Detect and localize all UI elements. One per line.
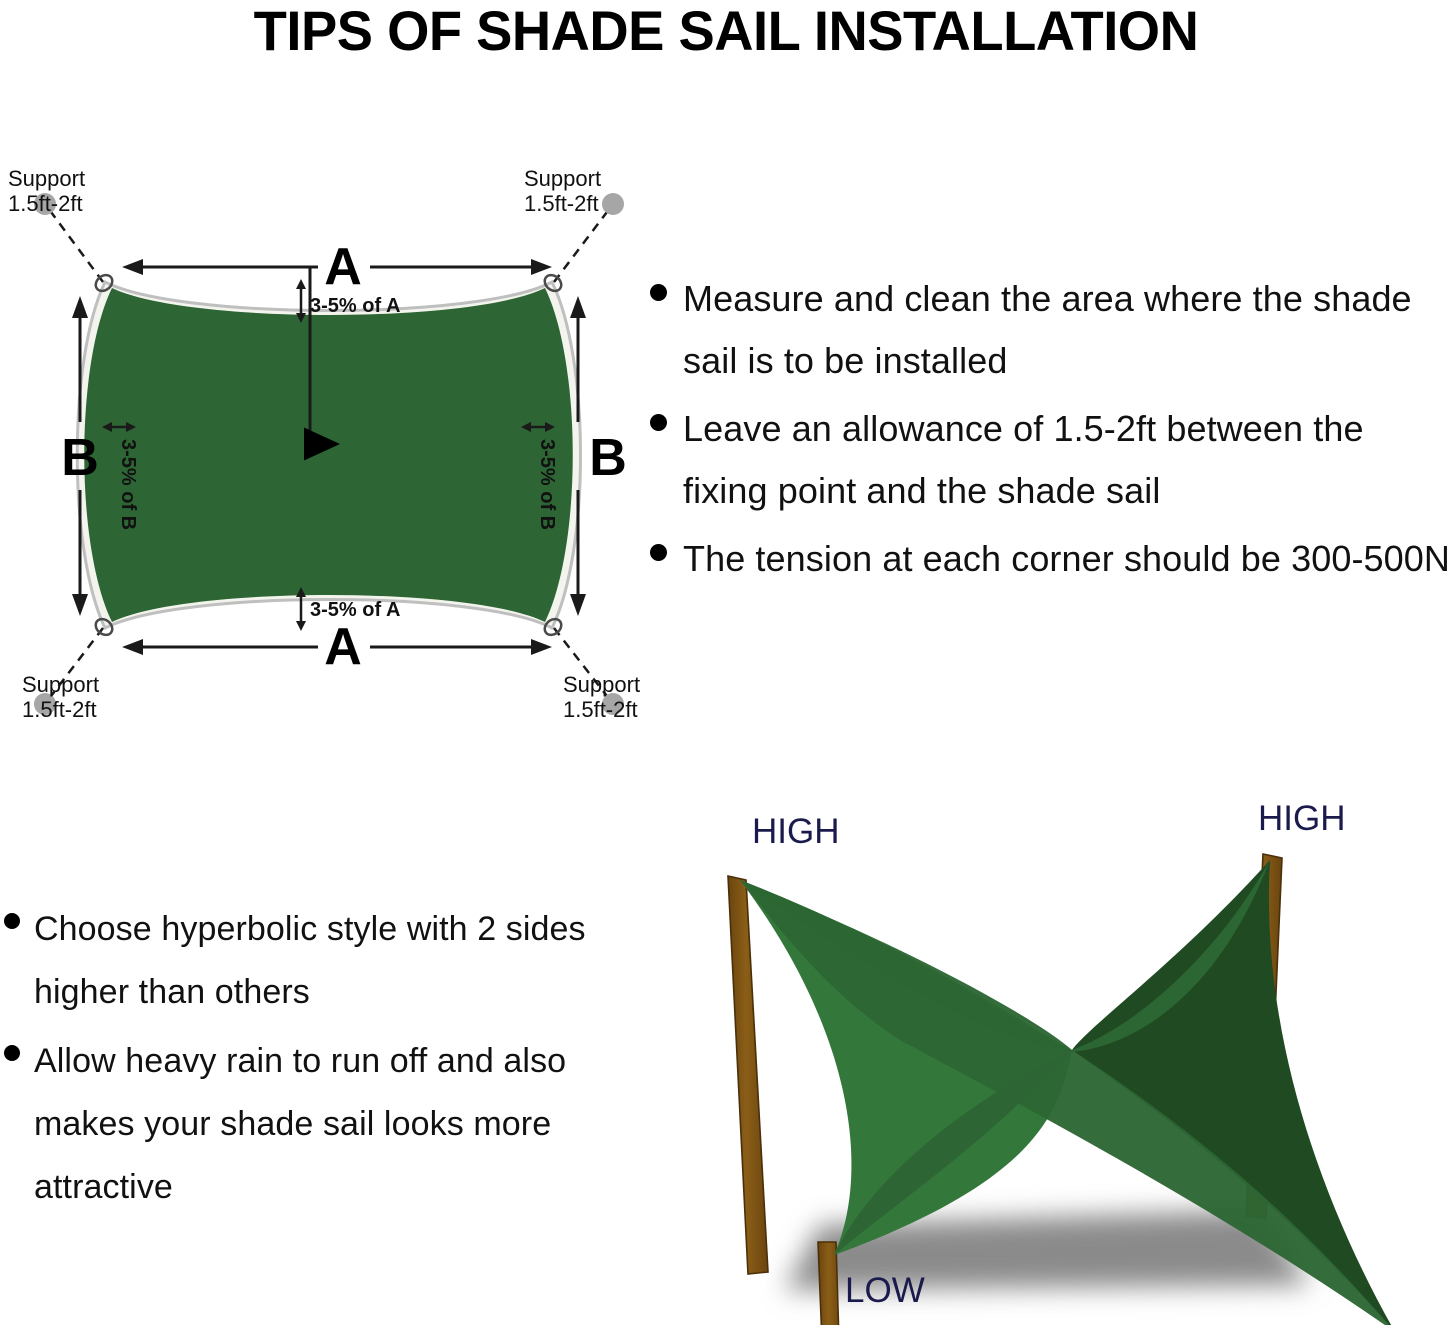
support-label-bottom-right-line2: 1.5ft-2ft <box>563 697 638 722</box>
label-high-right: HIGH <box>1258 799 1346 838</box>
dim-label-curve-left: 3-5% of B <box>117 439 139 530</box>
dim-label-curve-top: 3-5% of A <box>310 295 400 317</box>
bullet-icon <box>4 1045 20 1061</box>
support-label-top-left-line2: 1.5ft-2ft <box>8 191 83 216</box>
dim-label-right-b: B <box>589 429 627 487</box>
list-item: Allow heavy rain to run off and also mak… <box>4 1030 624 1219</box>
tip-text: Leave an allowance of 1.5-2ft between th… <box>683 398 1450 522</box>
dim-label-curve-right: 3-5% of B <box>536 439 558 530</box>
post-high-left <box>728 876 768 1274</box>
support-label-top-left-line1: Support <box>8 166 85 191</box>
support-label-bottom-left-line2: 1.5ft-2ft <box>22 697 97 722</box>
sail-fabric <box>84 288 573 622</box>
installation-tips-list-bottom: Choose hyperbolic style with 2 sides hig… <box>4 898 624 1225</box>
label-low-left: LOW <box>845 1271 925 1310</box>
hyperbolic-sail-diagram: HIGH HIGH LOW LOW <box>620 780 1452 1325</box>
support-label-bottom-right-line1: Support <box>563 672 640 697</box>
support-dot-top-right <box>602 193 624 215</box>
list-item: The tension at each corner should be 300… <box>650 528 1450 590</box>
bullet-icon <box>4 913 20 929</box>
tip-text: Measure and clean the area where the sha… <box>683 268 1450 392</box>
dim-label-curve-bottom: 3-5% of A <box>310 599 400 621</box>
list-item: Choose hyperbolic style with 2 sides hig… <box>4 898 624 1024</box>
page-title: TIPS OF SHADE SAIL INSTALLATION <box>22 0 1430 60</box>
list-item: Leave an allowance of 1.5-2ft between th… <box>650 398 1450 522</box>
dim-label-bottom-a: A <box>324 618 362 676</box>
tip-text: Allow heavy rain to run off and also mak… <box>34 1030 624 1219</box>
support-line-top-right <box>554 208 610 282</box>
dim-label-left-b: B <box>61 429 99 487</box>
bullet-icon <box>650 544 667 561</box>
tip-text: The tension at each corner should be 300… <box>683 528 1450 590</box>
support-line-top-left <box>48 208 103 282</box>
bullet-icon <box>650 284 667 301</box>
bullet-icon <box>650 414 667 431</box>
installation-tips-list-top: Measure and clean the area where the sha… <box>650 268 1450 596</box>
support-label-top-right-line1: Support <box>524 166 601 191</box>
list-item: Measure and clean the area where the sha… <box>650 268 1450 392</box>
rectangular-sail-diagram: Support 1.5ft-2ft Support 1.5ft-2ft Supp… <box>0 160 660 740</box>
support-label-top-right-line2: 1.5ft-2ft <box>524 191 599 216</box>
tip-text: Choose hyperbolic style with 2 sides hig… <box>34 898 624 1024</box>
dim-label-top-a: A <box>324 238 362 296</box>
support-label-bottom-left-line1: Support <box>22 672 99 697</box>
label-high-left: HIGH <box>752 812 840 851</box>
